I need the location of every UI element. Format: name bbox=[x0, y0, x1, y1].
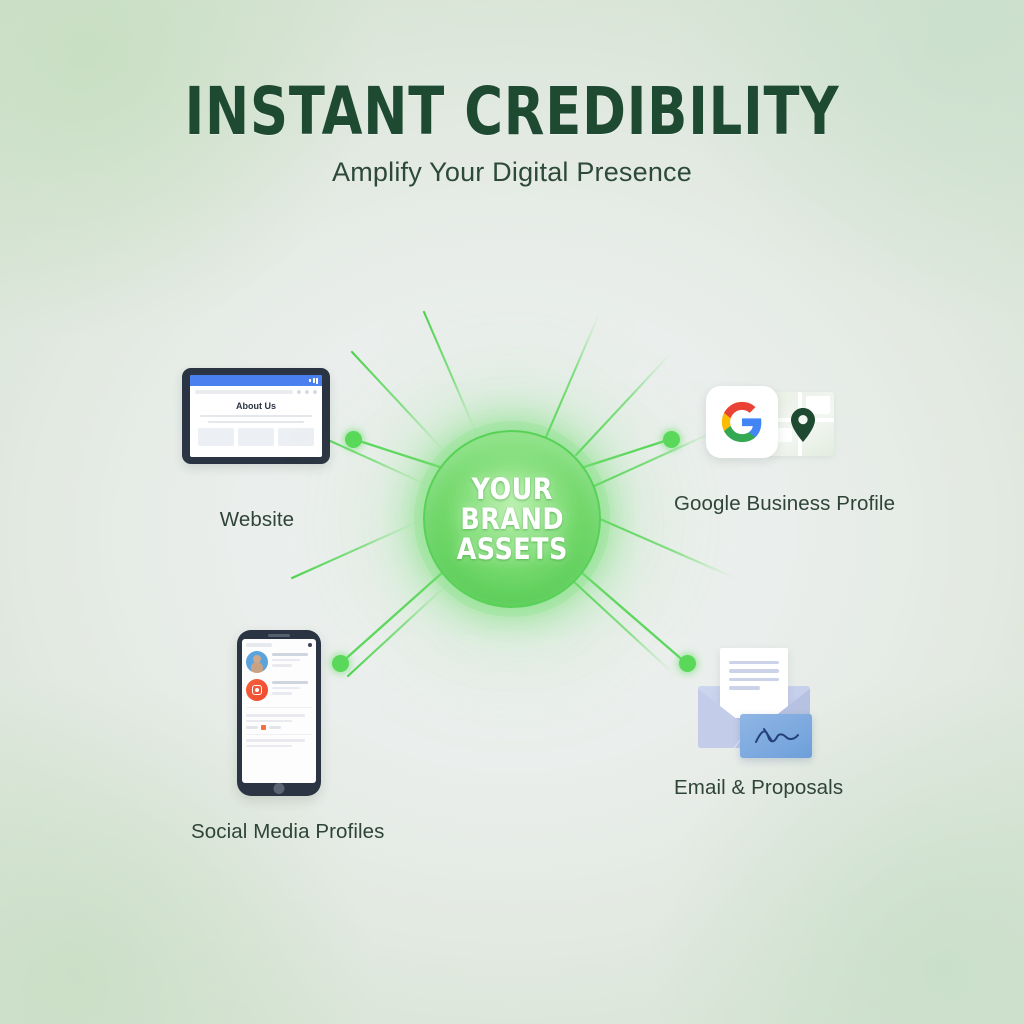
website-card bbox=[198, 428, 234, 446]
social-media-art bbox=[237, 630, 321, 796]
node-label-social-media: Social Media Profiles bbox=[191, 820, 367, 844]
website-card bbox=[278, 428, 314, 446]
phone-screen bbox=[242, 639, 316, 783]
email-art bbox=[694, 648, 814, 760]
central-hub[interactable]: YOUR BRAND ASSETS bbox=[423, 430, 601, 608]
connector-dot-social-media bbox=[332, 655, 349, 672]
feed-body bbox=[246, 712, 312, 747]
feed-post bbox=[246, 679, 312, 701]
feed-header bbox=[246, 643, 312, 647]
website-text-line bbox=[200, 415, 312, 418]
node-social-media[interactable]: Social Media Profiles bbox=[237, 630, 321, 844]
node-website[interactable]: About Us Website bbox=[182, 368, 332, 532]
feed-logo bbox=[246, 643, 272, 647]
feed-post bbox=[246, 651, 312, 673]
hub-line-1: YOUR bbox=[456, 474, 567, 504]
browser-icon-3 bbox=[313, 390, 317, 394]
map-pin-icon bbox=[790, 408, 816, 442]
tablet-browser-icon: About Us bbox=[182, 368, 330, 464]
instagram-icon bbox=[246, 679, 268, 701]
browser-icon-2 bbox=[305, 390, 309, 394]
connector-dot-website bbox=[345, 431, 362, 448]
infographic-canvas: INSTANT CREDIBILITY Amplify Your Digital… bbox=[0, 0, 1024, 1024]
website-card bbox=[238, 428, 274, 446]
feed-menu-icon bbox=[308, 643, 312, 647]
hub-line-2: BRAND bbox=[456, 504, 567, 534]
hub-label: YOUR BRAND ASSETS bbox=[456, 474, 567, 564]
website-card-row bbox=[190, 423, 322, 446]
connector-dot-email bbox=[679, 655, 696, 672]
node-label-website: Website bbox=[182, 508, 332, 532]
signature-card bbox=[740, 714, 812, 758]
browser-address-row bbox=[190, 386, 322, 396]
node-label-google-profile: Google Business Profile bbox=[674, 492, 706, 516]
node-email[interactable]: Email & Proposals bbox=[694, 648, 814, 800]
address-bar bbox=[195, 390, 293, 394]
phone-speaker bbox=[268, 634, 290, 637]
website-page-heading: About Us bbox=[190, 401, 322, 411]
tablet-screen: About Us bbox=[190, 375, 322, 457]
connector-dot-google-profile bbox=[663, 431, 680, 448]
browser-top-bar bbox=[190, 375, 322, 386]
website-art: About Us bbox=[182, 368, 332, 464]
browser-icon-1 bbox=[297, 390, 301, 394]
envelope-document-icon bbox=[694, 648, 814, 760]
node-label-email: Email & Proposals bbox=[674, 776, 834, 800]
feed-accent-dot bbox=[261, 725, 266, 730]
google-g-icon bbox=[720, 400, 764, 444]
phone-home-button bbox=[274, 783, 285, 794]
signature-icon bbox=[750, 723, 802, 749]
hub-line-3: ASSETS bbox=[456, 534, 567, 564]
google-logo-tile bbox=[706, 386, 778, 458]
avatar bbox=[246, 651, 268, 673]
phone-social-feed-icon bbox=[237, 630, 321, 796]
